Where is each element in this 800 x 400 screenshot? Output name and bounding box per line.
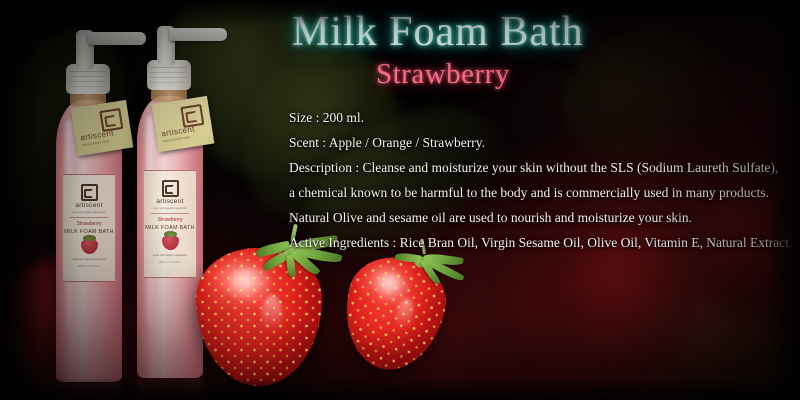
page-subtitle: Strawberry [376,58,510,91]
label-size: 200 ml. / 6.76 fl.oz. [63,265,115,268]
bottle-label: artiscent pure and organic ingredients S… [144,170,196,278]
label-strawberry-icon [162,235,179,250]
detail-line: Description : Cleanse and moisturize you… [289,155,794,180]
label-size: 200 ml. / 6.76 fl.oz. [144,261,196,264]
artiscent-logo-icon [162,180,179,197]
detail-line: Natural Olive and sesame oil are used to… [289,205,794,230]
page-title: Milk Foam Bath [292,8,584,56]
bottle-reflection [137,376,203,400]
label-footer: made with organic ingredients [144,254,196,257]
label-strawberry-icon [81,239,98,254]
product-advertisement: artiscent pure and organic ingredients S… [0,0,800,400]
pump-spout-icon [88,32,146,45]
detail-line: Active Ingredients : Rice Bran Oil, Virg… [289,230,794,255]
strawberry-photo [196,248,322,386]
hang-tag: artiscent natural body care [71,100,134,156]
label-flavor: Strawberry [63,221,115,227]
label-footer: made with organic ingredients [63,258,115,261]
bottle-label: artiscent pure and organic ingredients S… [63,174,115,282]
detail-line: Scent : Apple / Orange / Strawberry. [289,130,794,155]
bottle-reflection [56,380,122,400]
label-tagline: pure and organic ingredients [63,211,115,214]
label-flavor: Strawberry [144,217,196,223]
label-divider [70,217,108,218]
detail-line: Size : 200 ml. [289,105,794,130]
hang-tag: artiscent natural body care [152,96,215,152]
label-brand: artiscent [144,198,196,205]
strawberry-highlight [262,295,282,336]
product-details-list: Size : 200 ml. Scent : Apple / Orange / … [289,105,794,255]
label-tagline: pure and organic ingredients [144,207,196,210]
artiscent-logo-icon [81,184,98,201]
label-divider [151,213,189,214]
pump-spout-icon [169,28,227,41]
detail-line: a chemical known to be harmful to the bo… [289,180,794,205]
label-brand: artiscent [63,202,115,209]
